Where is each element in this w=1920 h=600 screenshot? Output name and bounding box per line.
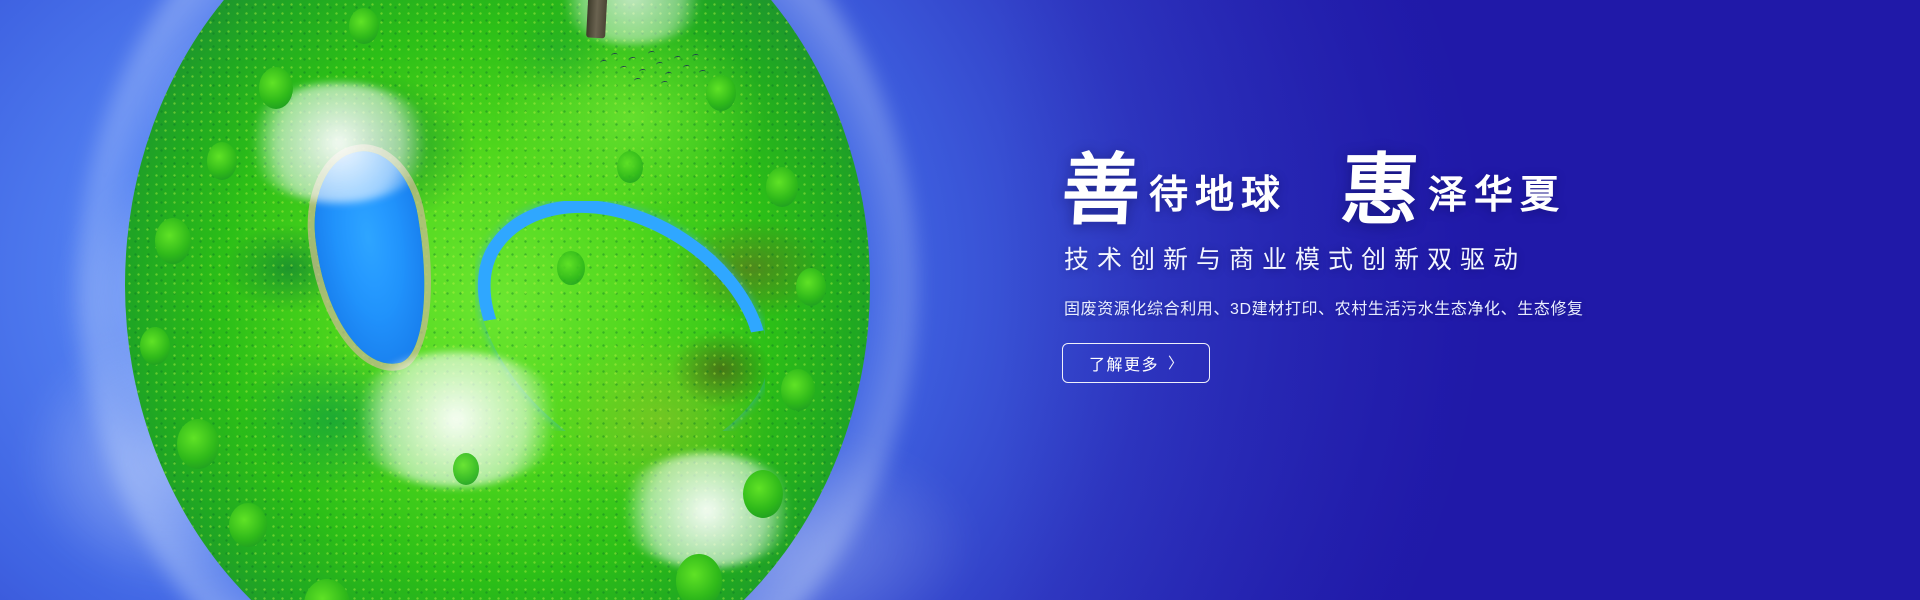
learn-more-label: 了解更多: [1089, 351, 1159, 375]
earth-globe-illustration: [125, 0, 870, 600]
rim-tree-cluster: [125, 0, 870, 600]
headline-phrase-2-lead: 惠: [1339, 157, 1421, 224]
hero-banner: 善 待地球 惠 泽华夏 技术创新与商业模式创新双驱动 固废资源化综合利用、3D建…: [0, 0, 1920, 600]
headline-phrase-2: 惠 泽华夏: [1341, 157, 1566, 224]
hero-copy: 善 待地球 惠 泽华夏 技术创新与商业模式创新双驱动 固废资源化综合利用、3D建…: [1062, 140, 1762, 383]
headline-phrase-1: 善 待地球: [1062, 157, 1287, 224]
page-title: 善 待地球 惠 泽华夏: [1062, 140, 1762, 224]
headline-phrase-1-lead: 善: [1060, 157, 1142, 224]
description-text: 固废资源化综合利用、3D建材打印、农村生活污水生态净化、生态修复: [1064, 295, 1762, 319]
chevron-right-icon: 〉: [1168, 352, 1183, 373]
bird-flock: [598, 48, 718, 88]
subtitle: 技术创新与商业模式创新双驱动: [1064, 240, 1762, 276]
tree-trunk: [586, 0, 613, 38]
headline-phrase-1-rest: 待地球: [1140, 176, 1287, 224]
headline-phrase-2-rest: 泽华夏: [1419, 176, 1566, 224]
learn-more-button[interactable]: 了解更多 〉: [1062, 343, 1210, 383]
foreground-tree: [480, 0, 710, 50]
globe-sphere: [125, 0, 870, 600]
